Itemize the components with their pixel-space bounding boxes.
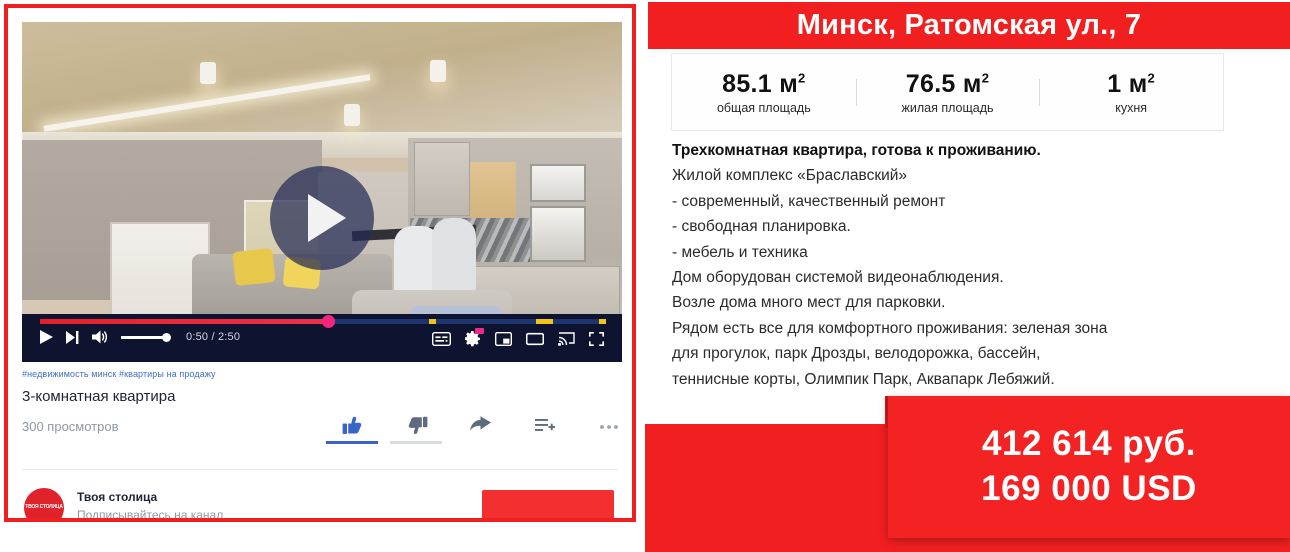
- controls-right-group: [432, 331, 604, 347]
- volume-slider-handle[interactable]: [162, 333, 171, 342]
- stat-unit-exponent: 2: [798, 70, 806, 85]
- address-text: Минск, Ратомская ул., 7: [797, 9, 1141, 42]
- stat-value: 76.5 м2: [856, 70, 1040, 99]
- next-icon[interactable]: [66, 331, 79, 344]
- thumb-spotlight: [430, 60, 446, 82]
- channel-row: ТВОЯ СТОЛИЦА Твоя столица Подписывайтесь…: [22, 486, 618, 522]
- channel-avatar[interactable]: ТВОЯ СТОЛИЦА: [24, 488, 64, 522]
- play-button-overlay[interactable]: [270, 166, 374, 270]
- thumb-pillow: [232, 248, 275, 286]
- more-options-icon: [598, 415, 620, 436]
- video-hashtags[interactable]: #недвижимость минск #квартиры на продажу: [22, 369, 618, 379]
- description-line: - мебель и техника: [672, 240, 1232, 265]
- theater-mode-icon[interactable]: [526, 332, 544, 346]
- dislike-button[interactable]: [406, 415, 428, 436]
- channel-name[interactable]: Твоя столица: [77, 490, 157, 504]
- price-byn: 412 614 руб.: [982, 422, 1196, 467]
- description-line: Жилой комплекс «Браславский»: [672, 163, 1232, 188]
- fullscreen-icon[interactable]: [589, 332, 604, 346]
- thumb-cabinet: [414, 142, 470, 216]
- stat-unit-exponent: 2: [982, 70, 990, 85]
- share-icon: [470, 415, 492, 436]
- video-action-buttons: [342, 415, 620, 436]
- stat-living-area: 76.5 м2жилая площадь: [856, 70, 1040, 115]
- area-stats-box: 85.1 м2общая площадь76.5 м2жилая площадь…: [671, 53, 1224, 131]
- progress-scrubber-handle[interactable]: [322, 315, 335, 328]
- like-underline: [326, 441, 378, 444]
- miniplayer-icon[interactable]: [495, 332, 512, 346]
- volume-icon[interactable]: [92, 330, 107, 344]
- controls-left-group: 0:50 / 2:50: [40, 330, 240, 344]
- description-line: для прогулок, парк Дрозды, велодорожка, …: [672, 341, 1232, 366]
- thumbs-down-icon: [406, 415, 428, 436]
- like-button[interactable]: [342, 415, 364, 436]
- description-line: - свободная планировка.: [672, 214, 1232, 239]
- settings-new-badge: [475, 328, 484, 334]
- channel-subtitle: Подписывайтесь на канал: [77, 508, 223, 522]
- chapter-marker: [429, 319, 436, 324]
- controls-row: 0:50 / 2:50: [40, 330, 604, 356]
- stat-value: 85.1 м2: [672, 70, 856, 99]
- progress-bar[interactable]: [40, 319, 604, 324]
- price-usd: 169 000 USD: [981, 467, 1197, 512]
- stat-unit-exponent: 2: [1148, 70, 1156, 85]
- play-icon[interactable]: [40, 330, 53, 344]
- thumb-oven-lower: [530, 206, 586, 262]
- avatar-logo-text: ТВОЯ СТОЛИЦА: [25, 505, 63, 511]
- chapter-marker: [536, 319, 553, 324]
- address-banner: Минск, Ратомская ул., 7: [648, 2, 1290, 49]
- price-panel: 412 614 руб. 169 000 USD: [888, 396, 1290, 538]
- description-line: Дом оборудован системой видеонаблюдения.: [672, 265, 1232, 290]
- stat-label: кухня: [1039, 101, 1223, 115]
- save-to-playlist-icon: [534, 415, 556, 436]
- stat-label: жилая площадь: [856, 101, 1040, 115]
- stat-total-area: 85.1 м2общая площадь: [672, 70, 856, 115]
- view-count: 300 просмотров: [22, 419, 119, 434]
- progress-fill: [40, 319, 328, 324]
- thumb-spotlight: [344, 104, 360, 126]
- stat-kitchen-area: 1 м2кухня: [1039, 70, 1223, 115]
- listing-description: Трехкомнатная квартира, готова к прожива…: [672, 138, 1232, 392]
- description-line: Возле дома много мест для парковки.: [672, 290, 1232, 315]
- video-meta-row: 300 просмотров: [22, 415, 618, 455]
- save-to-playlist-button[interactable]: [534, 415, 556, 436]
- share-button[interactable]: [470, 415, 492, 436]
- description-line: Трехкомнатная квартира, готова к прожива…: [672, 138, 1232, 163]
- play-triangle-icon: [308, 194, 346, 242]
- time-display: 0:50 / 2:50: [186, 331, 240, 343]
- dislike-underline: [390, 441, 442, 444]
- stat-value: 1 м2: [1039, 70, 1223, 99]
- subtitles-icon[interactable]: [432, 332, 451, 346]
- meta-divider: [22, 469, 618, 470]
- player-controls-bar: 0:50 / 2:50: [22, 314, 622, 362]
- thumbs-up-icon: [342, 415, 364, 436]
- thumb-spotlight: [200, 62, 216, 84]
- thumb-oven-upper: [530, 164, 586, 202]
- volume-slider[interactable]: [121, 336, 167, 339]
- video-title: 3-комнатная квартира: [22, 388, 618, 405]
- youtube-card-inner: 0:50 / 2:50: [8, 8, 632, 518]
- chapter-marker: [599, 319, 606, 324]
- description-line: - современный, качественный ремонт: [672, 189, 1232, 214]
- video-player[interactable]: 0:50 / 2:50: [22, 22, 622, 362]
- cast-icon[interactable]: [558, 332, 575, 346]
- youtube-video-card: 0:50 / 2:50: [4, 4, 636, 522]
- stat-label: общая площадь: [672, 101, 856, 115]
- settings-gear-icon[interactable]: [465, 331, 481, 347]
- description-line: Рядом есть все для комфортного проживани…: [672, 316, 1232, 341]
- thumb-chair: [432, 218, 476, 292]
- more-options-button[interactable]: [598, 415, 620, 436]
- subscribe-button[interactable]: [482, 490, 614, 520]
- description-line: теннисные корты, Олимпик Парк, Аквапарк …: [672, 367, 1232, 392]
